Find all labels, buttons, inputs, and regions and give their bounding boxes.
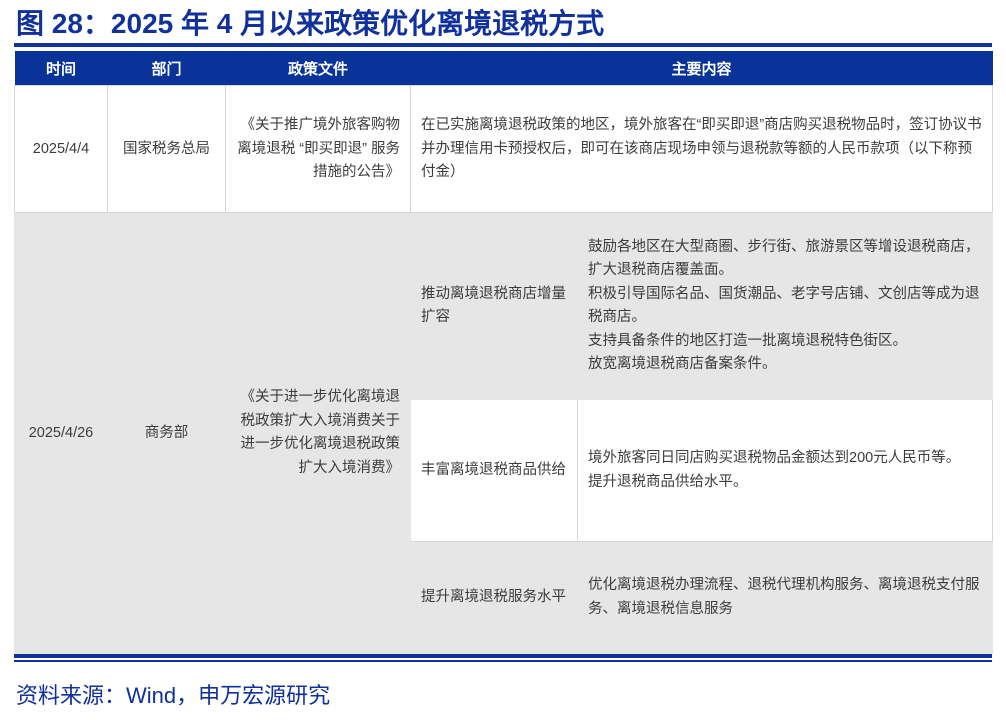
table-row: 2025/4/26 商务部 《关于进一步优化离境退税政策扩大入境消费关于进一步优… [15,213,993,400]
table-header: 时间 部门 政策文件 主要内容 [15,51,993,86]
source-note: 资料来源：Wind，申万宏源研究 [14,678,992,710]
cell-subsection-label: 丰富离境退税商品供给 [411,400,578,542]
cell-main-content: 在已实施离境退税政策的地区，境外旅客在“即买即退”商店购买退税物品时，签订协议书… [411,86,993,213]
column-header-policy-document: 政策文件 [226,51,411,86]
policy-table: 时间 部门 政策文件 主要内容 2025/4/4 国家税务总局 《关于推广境外旅… [14,51,993,654]
column-header-department: 部门 [108,51,226,86]
cell-subsection-content: 鼓励各地区在大型商圈、步行街、旅游景区等增设退税商店，扩大退税商店覆盖面。 积极… [578,213,993,400]
footer-divider [14,654,992,662]
cell-time: 2025/4/4 [15,86,108,213]
cell-subsection-content: 优化离境退税办理流程、退税代理机构服务、离境退税支付服务、离境退税信息服务 [578,542,993,654]
footer-divider-thin [14,660,992,662]
cell-subsection-content: 境外旅客同日同店购买退税物品金额达到200元人民币等。 提升退税商品供给水平。 [578,400,993,542]
cell-department: 国家税务总局 [108,86,226,213]
table-body: 2025/4/4 国家税务总局 《关于推广境外旅客购物离境退税 “即买即退” 服… [15,86,993,654]
cell-policy-document: 《关于推广境外旅客购物离境退税 “即买即退” 服务措施的公告》 [226,86,411,213]
table-header-row: 时间 部门 政策文件 主要内容 [15,51,993,86]
cell-subsection-label: 推动离境退税商店增量扩容 [411,213,578,400]
cell-subsection-label: 提升离境退税服务水平 [411,542,578,654]
table-row: 2025/4/4 国家税务总局 《关于推广境外旅客购物离境退税 “即买即退” 服… [15,86,993,213]
column-header-time: 时间 [15,51,108,86]
cell-policy-document: 《关于进一步优化离境退税政策扩大入境消费关于进一步优化离境退税政策扩大入境消费》 [226,213,411,654]
column-header-main-content: 主要内容 [411,51,993,86]
figure-page: 图 28：2025 年 4 月以来政策优化离境退税方式 时间 部门 政策文件 主… [0,0,1006,720]
title-divider [14,43,992,47]
page-title: 图 28：2025 年 4 月以来政策优化离境退税方式 [14,0,992,39]
cell-time: 2025/4/26 [15,213,108,654]
cell-department: 商务部 [108,213,226,654]
